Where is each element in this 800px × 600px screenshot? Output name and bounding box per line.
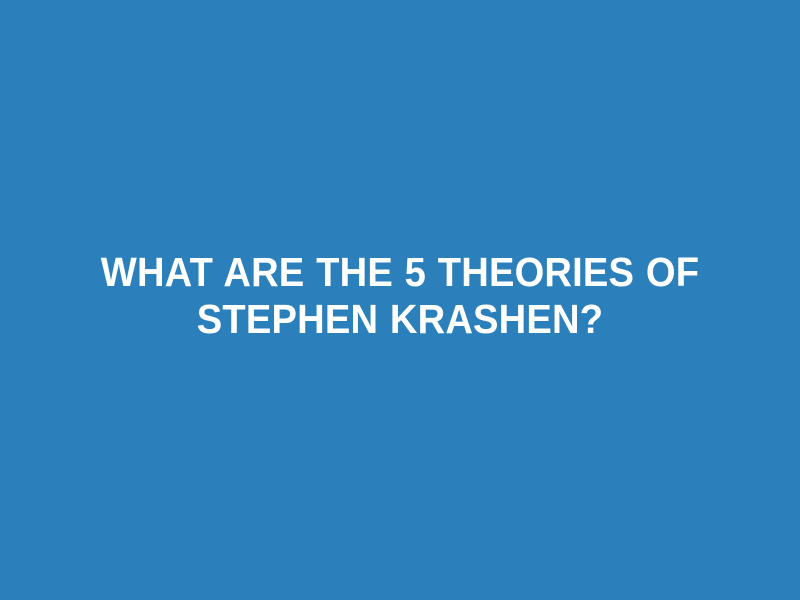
- featured-image-card: What are the 5 theories of Stephen Krash…: [0, 0, 800, 600]
- headline-block: What are the 5 theories of Stephen Krash…: [50, 249, 750, 343]
- page-title: What are the 5 theories of Stephen Krash…: [84, 249, 716, 343]
